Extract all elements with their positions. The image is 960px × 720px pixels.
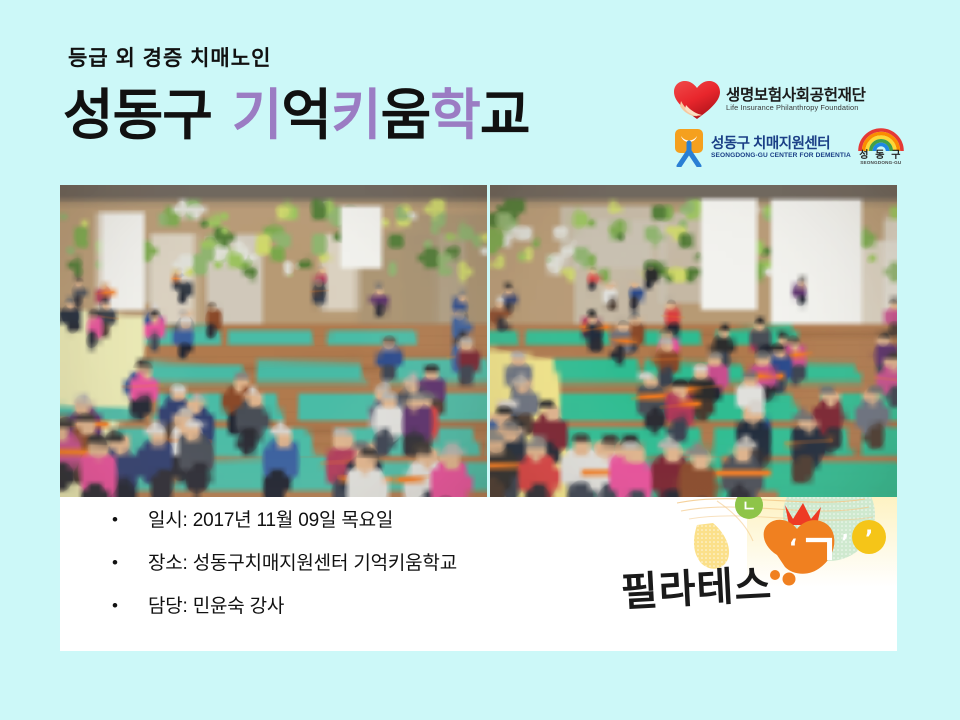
page-title: 성동구기억키움학교 <box>63 88 529 143</box>
title-part: 성동구 <box>63 84 212 146</box>
list-item-text: 일시: 2017년 11월 09일 목요일 <box>148 511 393 532</box>
svg-text:ㄴ: ㄴ <box>742 497 756 515</box>
info-panel: ㄴ ’ ‘ ’ ㄱ 필라테스 • 일시: 2017년 11월 09일 목요일 •… <box>60 497 897 651</box>
svg-text:ㄱ: ㄱ <box>799 525 839 576</box>
photo-left <box>60 185 487 497</box>
title-part: 기 <box>232 84 282 146</box>
district-english: SEONGDONG-GU <box>857 161 905 166</box>
info-bullet-list: • 일시: 2017년 11월 09일 목요일 • 장소: 성동구치매지원센터 … <box>112 511 632 640</box>
logo-life-insurance: 생명보험사회공헌재단 Life Insurance Philanthropy F… <box>672 78 900 122</box>
life-insurance-korean: 생명보험사회공헌재단 <box>726 88 866 104</box>
list-item: • 일시: 2017년 11월 09일 목요일 <box>112 511 632 532</box>
title-part: 억 <box>281 84 331 146</box>
slide-canvas: 등급 외 경증 치매노인 성동구기억키움학교 <box>0 0 960 720</box>
photo-strip <box>60 185 897 497</box>
list-item-text: 담당: 민윤숙 강사 <box>148 597 284 618</box>
bullet-icon: • <box>112 511 148 530</box>
seongdong-mark-icon <box>672 129 706 167</box>
rainbow-icon: 성 동 구 SEONGDONG-GU <box>857 128 905 168</box>
list-item: • 장소: 성동구치매지원센터 기억키움학교 <box>112 554 632 575</box>
program-name: 필라테스 <box>620 565 773 613</box>
svg-text:’: ’ <box>865 527 873 552</box>
title-part: 움 <box>381 84 431 146</box>
logo-dementia-center: 성동구 치매지원센터 SEONGDONG-GU CENTER FOR DEMEN… <box>672 126 900 170</box>
svg-text:‘: ‘ <box>789 536 797 561</box>
bullet-icon: • <box>112 597 148 616</box>
list-item: • 담당: 민윤숙 강사 <box>112 597 632 618</box>
page-kicker: 등급 외 경증 치매노인 <box>68 48 271 69</box>
list-item-text: 장소: 성동구치매지원센터 기억키움학교 <box>148 554 457 575</box>
photo-right <box>490 185 897 497</box>
heart-icon <box>672 79 722 121</box>
title-part: 키 <box>331 84 381 146</box>
dementia-center-korean: 성동구 치매지원센터 <box>711 137 851 152</box>
dementia-center-english: SEONGDONG-GU CENTER FOR DEMENTIA <box>711 152 851 160</box>
logo-group: 생명보험사회공헌재단 Life Insurance Philanthropy F… <box>672 78 900 170</box>
life-insurance-english: Life Insurance Philanthropy Foundation <box>726 104 866 112</box>
title-part: 학 <box>430 84 480 146</box>
decoration-graphic: ㄴ ’ ‘ ’ ㄱ 필라테스 <box>597 497 897 651</box>
svg-text:’: ’ <box>841 530 849 554</box>
bullet-icon: • <box>112 554 148 573</box>
title-part: 교 <box>480 84 530 146</box>
